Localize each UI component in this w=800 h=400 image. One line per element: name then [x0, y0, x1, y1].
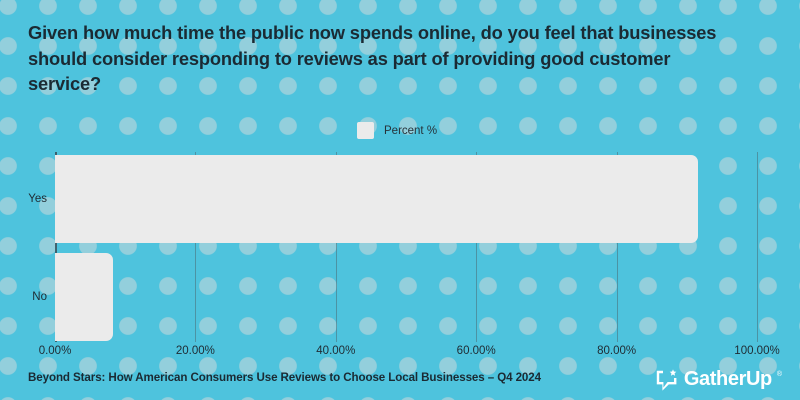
x-axis-tick: 20.00% — [176, 345, 215, 357]
plot-inner — [55, 152, 757, 342]
y-axis-tick-yes: Yes — [3, 193, 47, 205]
bar-row — [55, 253, 113, 341]
brand-name: GatherUp — [684, 368, 772, 391]
y-axis-tick-no: No — [3, 291, 47, 303]
footer-caption: Beyond Stars: How American Consumers Use… — [28, 371, 541, 384]
page-title: Given how much time the public now spend… — [28, 20, 748, 97]
brand-logo: GatherUp ® — [655, 368, 782, 391]
bar-row — [55, 155, 698, 243]
x-axis-tick: 80.00% — [597, 345, 636, 357]
bar-no — [55, 253, 113, 341]
legend-label-percent: Percent % — [384, 125, 437, 137]
x-axis-tick: 60.00% — [457, 345, 496, 357]
bar-series-percent — [55, 152, 757, 342]
x-axis-labels: 0.00% 20.00% 40.00% 60.00% 80.00% 100.00… — [55, 345, 757, 361]
brand-trademark: ® — [777, 371, 782, 378]
legend-swatch-percent — [357, 122, 374, 139]
y-axis-labels: Yes No — [0, 152, 47, 342]
chart-legend: Percent % — [357, 122, 437, 139]
bar-yes — [55, 155, 698, 243]
x-axis-tick: 100.00% — [734, 345, 779, 357]
x-axis-tick: 40.00% — [316, 345, 355, 357]
speech-bubble-star-icon — [655, 369, 679, 391]
title-block: Given how much time the public now spend… — [28, 20, 748, 97]
x-axis-tick: 0.00% — [39, 345, 72, 357]
gridline-100 — [757, 152, 758, 342]
infographic-canvas: Given how much time the public now spend… — [0, 0, 800, 400]
plot-area — [55, 152, 757, 342]
